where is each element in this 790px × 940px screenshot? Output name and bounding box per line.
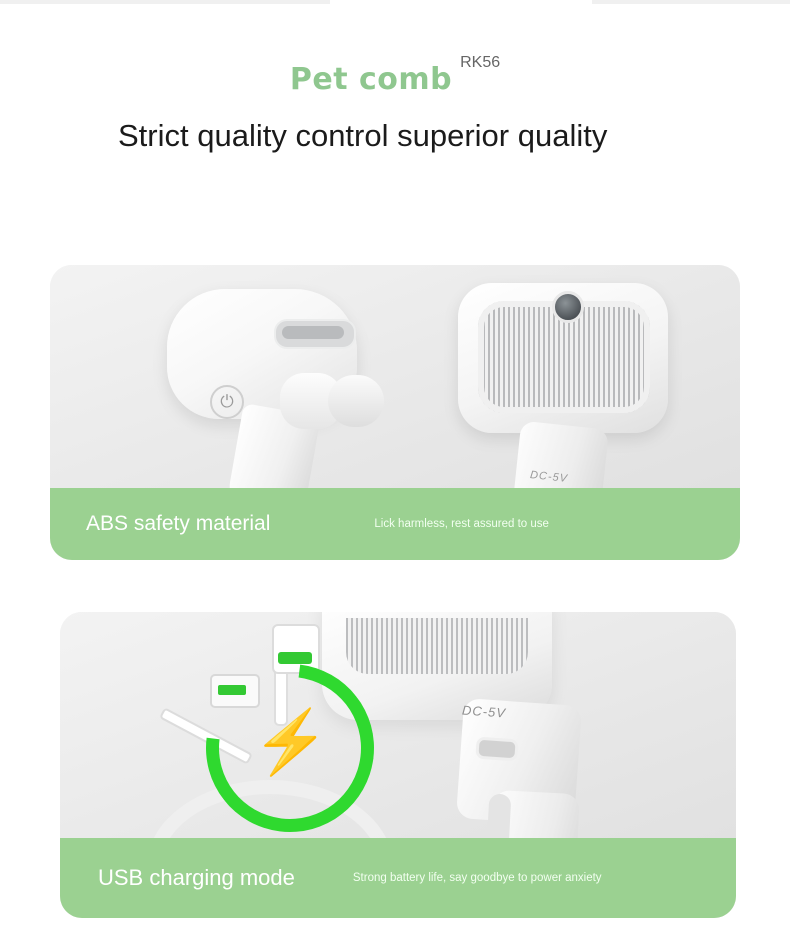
abs-material-caption: ABS safety material	[86, 512, 270, 536]
usb-charging-card: DC-5V ⚡ USB charging mode Strong battery…	[60, 612, 736, 918]
title-row: Pet combRK56	[0, 62, 790, 97]
page-title: Pet comb	[290, 62, 452, 97]
page-header: Pet combRK56 Strict quality control supe…	[0, 0, 790, 159]
usb-c-plug-inner	[278, 652, 312, 664]
lightning-bolt-icon: ⚡	[252, 712, 329, 774]
abs-material-card: ⏻ DC-5V ABS safety material Lick harmles…	[50, 265, 740, 560]
abs-material-caption-bar: ABS safety material Lick harmless, rest …	[50, 488, 740, 560]
dc-voltage-label-2: DC-5V	[462, 702, 507, 720]
usb-charging-caption: USB charging mode	[98, 865, 295, 891]
product-detail-page: Pet combRK56 Strict quality control supe…	[0, 0, 790, 940]
usb-charging-caption-bar: USB charging mode Strong battery life, s…	[60, 838, 736, 918]
usb-charging-subcaption: Strong battery life, say goodbye to powe…	[353, 871, 602, 886]
power-icon: ⏻	[210, 385, 244, 419]
comb-knob-secondary	[328, 375, 384, 427]
comb-pin-pad-2	[346, 618, 528, 674]
comb-vent-slot-inner	[282, 326, 344, 339]
page-subtitle: Strict quality control superior quality	[0, 113, 790, 159]
comb-release-button-icon	[552, 291, 584, 323]
product-model-label: RK56	[460, 54, 500, 71]
comb-body-illustration: ⏻	[122, 277, 422, 507]
charging-port-2	[475, 737, 518, 762]
comb-vent-slot	[274, 319, 356, 349]
abs-material-subcaption: Lick harmless, rest assured to use	[374, 517, 549, 532]
